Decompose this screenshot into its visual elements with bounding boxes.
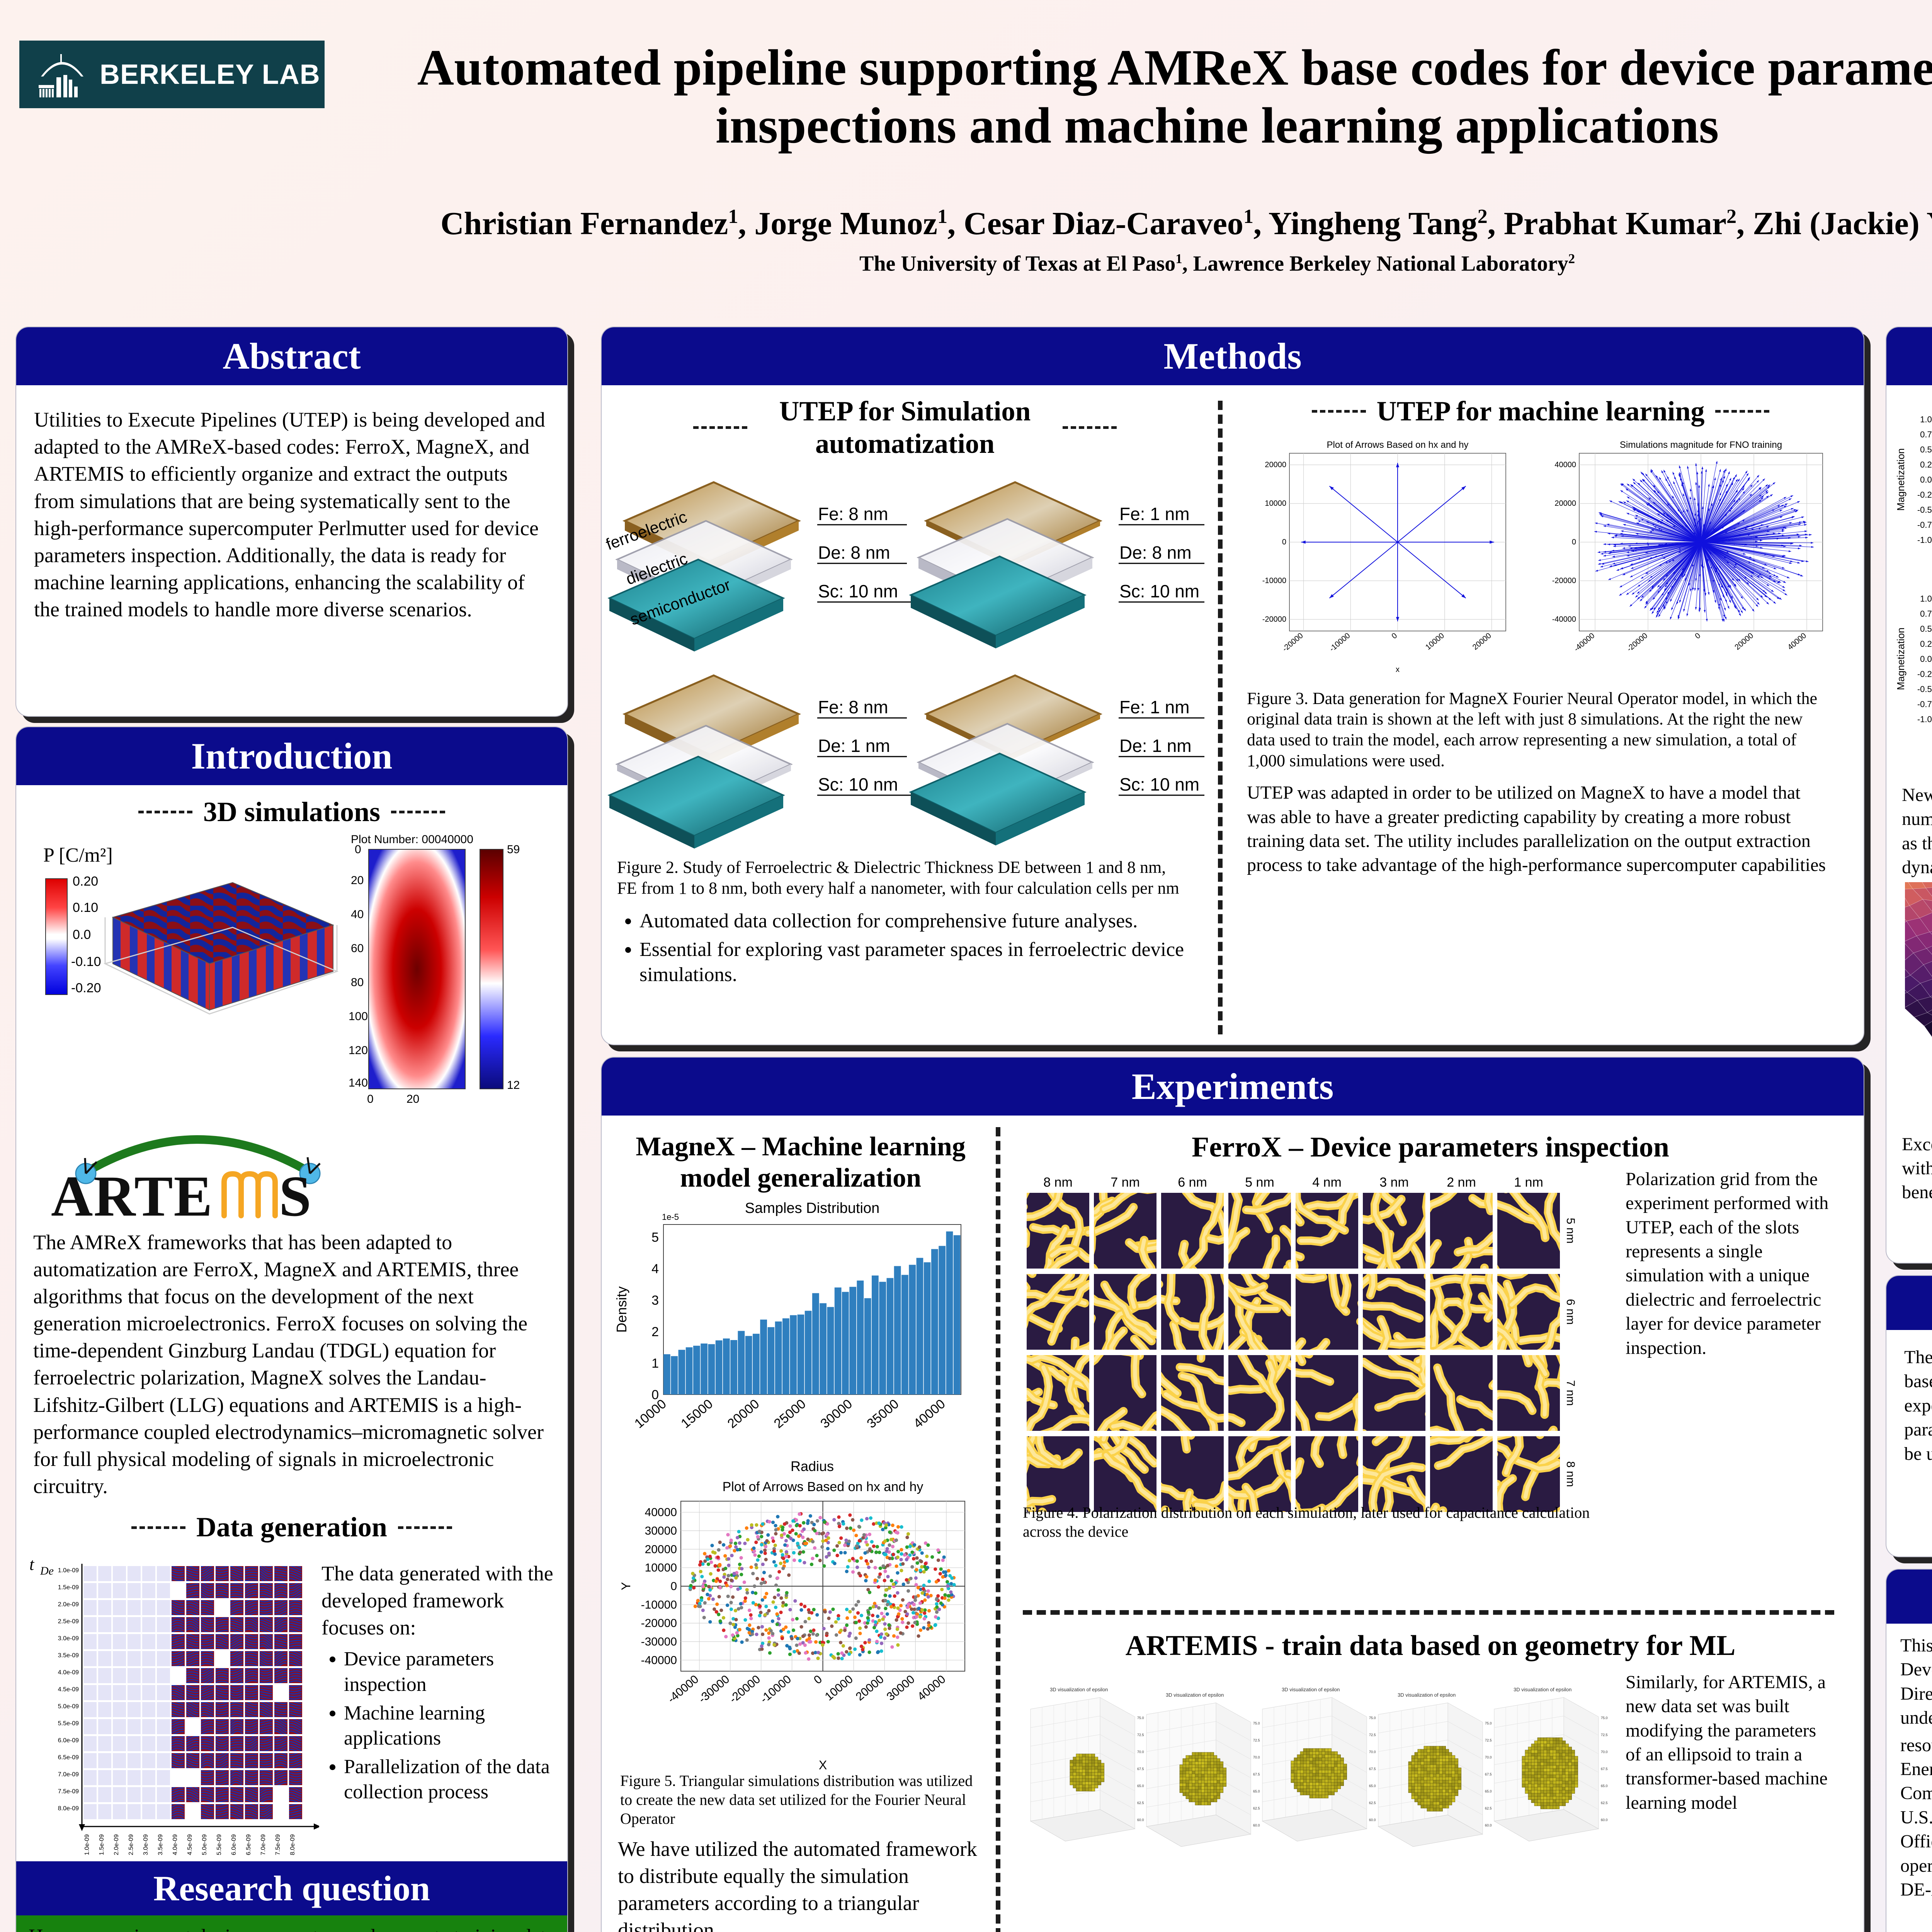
svg-text:4.0e-09: 4.0e-09 bbox=[172, 1834, 179, 1855]
panel-methods: Methods UTEP for Simulation automatizati… bbox=[601, 327, 1864, 1045]
svg-text:Fe: 8 nm: Fe: 8 nm bbox=[818, 697, 888, 717]
artemis-side-text: Similarly, for ARTEMIS, a new data set w… bbox=[1626, 1670, 1834, 1815]
svg-text:10000: 10000 bbox=[632, 1396, 669, 1431]
svg-text:5.0e-09: 5.0e-09 bbox=[201, 1834, 208, 1855]
panel-discussion: Discussion The UTEP utility is a newly-d… bbox=[1886, 1275, 1932, 1557]
svg-text:2.0e-09: 2.0e-09 bbox=[113, 1834, 120, 1855]
svg-text:ARTE: ARTE bbox=[51, 1164, 213, 1223]
svg-text:3.5e-09: 3.5e-09 bbox=[157, 1834, 164, 1855]
svg-text:-10000: -10000 bbox=[1262, 577, 1286, 585]
svg-text:72.5: 72.5 bbox=[1485, 1738, 1492, 1742]
svg-text:7.0e-09: 7.0e-09 bbox=[260, 1834, 267, 1855]
svg-text:Sc: 10 nm: Sc: 10 nm bbox=[818, 774, 898, 794]
svg-text:3D visualization of epsilon: 3D visualization of epsilon bbox=[1398, 1692, 1456, 1698]
dash-left-datagen bbox=[131, 1526, 185, 1529]
svg-text:-1.00: -1.00 bbox=[1917, 535, 1932, 545]
svg-text:59: 59 bbox=[507, 843, 520, 856]
svg-text:0.25: 0.25 bbox=[1920, 639, 1932, 649]
svg-text:0.00: 0.00 bbox=[1920, 475, 1932, 485]
figure5-caption: Figure 5. Triangular simulations distrib… bbox=[613, 1772, 988, 1828]
svg-text:67.5: 67.5 bbox=[1369, 1767, 1376, 1771]
svg-text:20: 20 bbox=[406, 1093, 419, 1105]
dash-right-ml bbox=[1715, 410, 1769, 413]
acknowledgments-text-2: resources of the National Energy Researc… bbox=[1900, 1733, 1932, 1902]
svg-text:65.0: 65.0 bbox=[1485, 1789, 1492, 1793]
svg-text:60.0: 60.0 bbox=[1137, 1818, 1144, 1822]
svg-text:S: S bbox=[279, 1164, 311, 1223]
svg-text:-0.20: -0.20 bbox=[71, 981, 101, 995]
svg-text:De: 8 nm: De: 8 nm bbox=[818, 543, 890, 563]
svg-text:75.0: 75.0 bbox=[1253, 1721, 1260, 1725]
svg-text:30000: 30000 bbox=[884, 1673, 917, 1703]
svg-text:-40000: -40000 bbox=[641, 1654, 677, 1667]
svg-text:20000: 20000 bbox=[854, 1673, 886, 1703]
acknowledgments-text: This work was supported by Laboratory Di… bbox=[1900, 1634, 1932, 1730]
svg-text:3.0e-09: 3.0e-09 bbox=[143, 1834, 149, 1855]
svg-text:20000: 20000 bbox=[1471, 631, 1493, 651]
artemis-logo: ARTE S bbox=[16, 1111, 567, 1226]
svg-text:-10000: -10000 bbox=[641, 1599, 677, 1611]
svg-text:67.5: 67.5 bbox=[1253, 1772, 1260, 1776]
svg-text:-10000: -10000 bbox=[1328, 631, 1352, 653]
svg-text:8 nm: 8 nm bbox=[1043, 1175, 1073, 1190]
svg-text:-30000: -30000 bbox=[696, 1673, 732, 1706]
svg-text:6.5e-09: 6.5e-09 bbox=[245, 1834, 252, 1855]
figure2-caption: Figure 2. Study of Ferroelectric & Diele… bbox=[617, 857, 1189, 898]
svg-text:40: 40 bbox=[351, 908, 364, 921]
svg-text:67.5: 67.5 bbox=[1137, 1767, 1144, 1771]
polarization-3d-figure: P [C/m²] 0.200.10 0.0-0.10 -0.20 bbox=[28, 836, 349, 1107]
svg-text:1.0e-09: 1.0e-09 bbox=[84, 1834, 90, 1855]
berkeley-dome-icon bbox=[33, 49, 91, 100]
svg-text:120: 120 bbox=[349, 1044, 368, 1057]
svg-text:15000: 15000 bbox=[678, 1396, 716, 1431]
dash-left-ml bbox=[1312, 410, 1366, 413]
device-stack-figure: ferroelectric dielectric semiconductor F… bbox=[602, 467, 1204, 857]
svg-text:-0.10: -0.10 bbox=[71, 954, 101, 969]
svg-text:Plot of Arrows Based on hx and: Plot of Arrows Based on hx and hy bbox=[723, 1480, 923, 1494]
ellipsoid-visualizations-figure: 3D visualization of epsilon75.072.570.06… bbox=[1023, 1682, 1614, 1932]
svg-text:Sc: 10 nm: Sc: 10 nm bbox=[818, 581, 898, 601]
section-header-abstract: Abstract bbox=[16, 327, 567, 385]
svg-text:72.5: 72.5 bbox=[1253, 1738, 1260, 1742]
svg-text:0.0: 0.0 bbox=[73, 927, 91, 942]
panel-introduction: Introduction 3D simulations bbox=[15, 726, 568, 1932]
subhead-3d-simulations: 3D simulations bbox=[203, 796, 380, 828]
ferrox-polarization-grid-figure: 8 nm7 nm6 nm5 nm4 nm3 nm2 nm1 nm5 nm6 nm… bbox=[1023, 1171, 1614, 1534]
svg-text:2.5e-09: 2.5e-09 bbox=[128, 1834, 134, 1855]
svg-text:-20000: -20000 bbox=[727, 1673, 763, 1706]
svg-text:7.0e-09: 7.0e-09 bbox=[58, 1771, 79, 1778]
svg-text:4 nm: 4 nm bbox=[1312, 1175, 1342, 1190]
svg-text:-30000: -30000 bbox=[641, 1636, 677, 1648]
svg-text:72.5: 72.5 bbox=[1137, 1733, 1144, 1737]
svg-text:-1.00: -1.00 bbox=[1917, 714, 1932, 724]
subhead-utep-ml: UTEP for machine learning bbox=[1377, 395, 1705, 428]
panel-acknowledgments: Acknowledgments This work was supported … bbox=[1886, 1569, 1932, 1932]
section-header-research-question: Research question bbox=[16, 1861, 567, 1915]
svg-text:1.00: 1.00 bbox=[1920, 594, 1932, 604]
svg-text:25000: 25000 bbox=[771, 1396, 809, 1431]
svg-text:30000: 30000 bbox=[818, 1396, 855, 1431]
svg-text:4.5e-09: 4.5e-09 bbox=[58, 1686, 79, 1693]
page-title-line1: Automated pipeline supporting AMReX base… bbox=[340, 39, 1932, 97]
svg-text:5 nm: 5 nm bbox=[1245, 1175, 1274, 1190]
figure4-caption: Figure 4. Polarization distribution on e… bbox=[1023, 1503, 1602, 1541]
subhead-artemis: ARTEMIS - train data based on geometry f… bbox=[1023, 1629, 1838, 1663]
svg-text:0: 0 bbox=[1694, 631, 1702, 640]
svg-text:40000: 40000 bbox=[645, 1506, 677, 1519]
svg-text:2: 2 bbox=[651, 1325, 659, 1339]
svg-text:t: t bbox=[29, 1555, 35, 1574]
svg-text:100: 100 bbox=[349, 1010, 368, 1023]
svg-text:140: 140 bbox=[349, 1077, 368, 1089]
svg-text:65.0: 65.0 bbox=[1369, 1784, 1376, 1788]
svg-text:0: 0 bbox=[1282, 538, 1286, 546]
svg-text:0: 0 bbox=[367, 1093, 374, 1105]
svg-text:-40000: -40000 bbox=[1552, 615, 1576, 624]
samples-distribution-figure: Samples Distribution1e-50123451000015000… bbox=[613, 1197, 973, 1476]
svg-text:10000: 10000 bbox=[645, 1562, 677, 1575]
svg-text:65.0: 65.0 bbox=[1601, 1784, 1608, 1788]
svg-text:7.5e-09: 7.5e-09 bbox=[58, 1788, 79, 1795]
svg-text:62.5: 62.5 bbox=[1601, 1801, 1608, 1805]
svg-text:75.0: 75.0 bbox=[1137, 1716, 1144, 1720]
section-header-results: Results bbox=[1886, 327, 1932, 385]
svg-text:60.0: 60.0 bbox=[1601, 1818, 1608, 1822]
svg-text:4.0e-09: 4.0e-09 bbox=[58, 1669, 79, 1676]
svg-text:3D visualization of epsilon: 3D visualization of epsilon bbox=[1050, 1687, 1108, 1692]
page-title-line2: inspections and machine learning applica… bbox=[340, 97, 1932, 155]
svg-text:40000: 40000 bbox=[911, 1396, 948, 1431]
figure-3d-simulations: P [C/m²] 0.200.10 0.0-0.10 -0.20 bbox=[16, 832, 567, 1126]
subhead-ferrox: FerroX – Device parameters inspection bbox=[1023, 1131, 1838, 1164]
svg-text:1.0e-09: 1.0e-09 bbox=[58, 1567, 79, 1574]
introduction-paragraph: The AMReX frameworks that has been adapt… bbox=[33, 1229, 550, 1500]
subhead-data-generation: Data generation bbox=[196, 1511, 387, 1544]
svg-text:1.5e-09: 1.5e-09 bbox=[58, 1584, 79, 1591]
svg-text:-0.75: -0.75 bbox=[1917, 520, 1932, 530]
svg-text:60.0: 60.0 bbox=[1253, 1823, 1260, 1827]
svg-text:0.50: 0.50 bbox=[1920, 445, 1932, 454]
svg-text:6 nm: 6 nm bbox=[1564, 1299, 1577, 1325]
page-title: Automated pipeline supporting AMReX base… bbox=[340, 39, 1932, 155]
svg-text:72.5: 72.5 bbox=[1601, 1733, 1608, 1737]
svg-text:8.0e-09: 8.0e-09 bbox=[58, 1805, 79, 1812]
svg-text:8.0e-09: 8.0e-09 bbox=[289, 1834, 296, 1855]
svg-text:5.0e-09: 5.0e-09 bbox=[58, 1703, 79, 1710]
affiliations: The University of Texas at El Paso1, Law… bbox=[193, 251, 1932, 276]
svg-text:7.5e-09: 7.5e-09 bbox=[275, 1834, 281, 1855]
methods-bullets: Automated data collection for comprehens… bbox=[639, 908, 1189, 988]
list-item: Machine learning applications bbox=[344, 1701, 553, 1751]
svg-text:0: 0 bbox=[1390, 631, 1399, 640]
svg-text:De: 1 nm: De: 1 nm bbox=[1119, 736, 1192, 756]
svg-text:1: 1 bbox=[651, 1356, 659, 1371]
panel-experiments: Experiments MagneX – Machine learning mo… bbox=[601, 1057, 1864, 1932]
svg-text:5.5e-09: 5.5e-09 bbox=[216, 1834, 223, 1855]
ferrox-side-text: Polarization grid from the experiment pe… bbox=[1626, 1167, 1834, 1360]
svg-text:6.0e-09: 6.0e-09 bbox=[58, 1737, 79, 1744]
svg-text:-0.50: -0.50 bbox=[1917, 505, 1932, 515]
svg-text:60.0: 60.0 bbox=[1485, 1823, 1492, 1827]
svg-text:Plot of Arrows Based on hx and: Plot of Arrows Based on hx and hy bbox=[1327, 440, 1469, 450]
svg-text:10000: 10000 bbox=[1424, 631, 1446, 651]
svg-text:40000: 40000 bbox=[1554, 461, 1576, 469]
svg-text:6.5e-09: 6.5e-09 bbox=[58, 1754, 79, 1761]
svg-text:70.0: 70.0 bbox=[1253, 1755, 1260, 1759]
svg-text:20000: 20000 bbox=[1554, 499, 1576, 508]
svg-text:62.5: 62.5 bbox=[1253, 1806, 1260, 1810]
svg-text:5 nm: 5 nm bbox=[1564, 1218, 1577, 1243]
svg-text:0.20: 0.20 bbox=[73, 874, 98, 889]
svg-text:70.0: 70.0 bbox=[1485, 1755, 1492, 1759]
plot-number-slice-figure: Plot Number: 00040000 02040 6080100 1201… bbox=[349, 832, 549, 1126]
svg-text:2 nm: 2 nm bbox=[1447, 1175, 1476, 1190]
svg-text:1.5e-09: 1.5e-09 bbox=[99, 1834, 105, 1855]
svg-text:1.00: 1.00 bbox=[1920, 415, 1932, 424]
results-paragraph-2: Excess capacitance on the device is foun… bbox=[1902, 1133, 1932, 1205]
svg-text:3.5e-09: 3.5e-09 bbox=[58, 1652, 79, 1659]
svg-text:2.0e-09: 2.0e-09 bbox=[58, 1601, 79, 1608]
methods-ml-paragraph: UTEP was adapted in order to be utilized… bbox=[1247, 781, 1830, 878]
svg-text:x: x bbox=[1396, 665, 1400, 673]
svg-text:0.10: 0.10 bbox=[73, 900, 98, 915]
svg-text:Simulations magnitude for FNO: Simulations magnitude for FNO training bbox=[1620, 440, 1782, 450]
dash-right-sim bbox=[1063, 426, 1117, 429]
svg-text:De: De bbox=[40, 1565, 54, 1577]
svg-text:65.0: 65.0 bbox=[1253, 1789, 1260, 1793]
svg-text:6.0e-09: 6.0e-09 bbox=[231, 1834, 237, 1855]
svg-text:-20000: -20000 bbox=[641, 1617, 677, 1630]
methods-divider bbox=[1218, 401, 1223, 1034]
experiments-divider bbox=[996, 1127, 1000, 1932]
svg-text:4.5e-09: 4.5e-09 bbox=[187, 1834, 193, 1855]
svg-text:20000: 20000 bbox=[645, 1543, 677, 1556]
subhead-data-generation-row: Data generation bbox=[32, 1511, 552, 1544]
dash-right-datagen bbox=[398, 1526, 452, 1529]
experiments-hdivider bbox=[1023, 1610, 1834, 1615]
svg-text:3 nm: 3 nm bbox=[1379, 1175, 1409, 1190]
svg-text:20000: 20000 bbox=[725, 1396, 762, 1431]
subhead-utep-sim-row: UTEP for Simulation automatization bbox=[602, 395, 1208, 460]
svg-text:67.5: 67.5 bbox=[1601, 1767, 1608, 1771]
svg-text:Samples Distribution: Samples Distribution bbox=[745, 1200, 879, 1216]
svg-text:70.0: 70.0 bbox=[1137, 1750, 1144, 1754]
svg-text:0.50: 0.50 bbox=[1920, 624, 1932, 634]
svg-text:70.0: 70.0 bbox=[1601, 1750, 1608, 1754]
list-item: Device parameters inspection bbox=[344, 1646, 553, 1697]
svg-text:75.0: 75.0 bbox=[1485, 1721, 1492, 1725]
svg-text:72.5: 72.5 bbox=[1369, 1733, 1376, 1737]
svg-text:10000: 10000 bbox=[1265, 499, 1286, 508]
berkeley-lab-logo: BERKELEY LAB bbox=[19, 41, 325, 108]
authors: Christian Fernandez1, Jorge Munoz1, Cesa… bbox=[193, 205, 1932, 242]
subhead-utep-simulation: UTEP for Simulation automatization bbox=[758, 395, 1052, 460]
svg-text:-20000: -20000 bbox=[1281, 631, 1305, 653]
device-label-fe: Fe: 8 nm bbox=[818, 504, 888, 524]
svg-text:Fe: 1 nm: Fe: 1 nm bbox=[1119, 697, 1190, 717]
svg-text:75.0: 75.0 bbox=[1601, 1716, 1608, 1720]
results-paragraph-1: New train data built with UTEP on par wi… bbox=[1902, 783, 1932, 880]
svg-text:3D visualization of epsilon: 3D visualization of epsilon bbox=[1166, 1692, 1224, 1698]
svg-text:70.0: 70.0 bbox=[1369, 1750, 1376, 1754]
svg-text:4: 4 bbox=[651, 1262, 659, 1276]
svg-text:5.5e-09: 5.5e-09 bbox=[58, 1720, 79, 1727]
svg-text:0.75: 0.75 bbox=[1920, 430, 1932, 439]
figure3-caption: Figure 3. Data generation for MagneX Fou… bbox=[1247, 688, 1830, 771]
abstract-text: Utilities to Execute Pipelines (UTEP) is… bbox=[34, 406, 549, 623]
research-question-block: Research question How can we inspect dev… bbox=[16, 1861, 567, 1932]
svg-text:0.25: 0.25 bbox=[1920, 460, 1932, 469]
data-generation-bullets: Device parameters inspection Machine lea… bbox=[344, 1646, 553, 1804]
svg-text:0: 0 bbox=[355, 843, 361, 856]
svg-text:-0.25: -0.25 bbox=[1917, 669, 1932, 679]
svg-text:Magnetization: Magnetization bbox=[1895, 448, 1906, 511]
svg-text:0: 0 bbox=[811, 1673, 825, 1687]
berkeley-lab-wordmark: BERKELEY LAB bbox=[100, 59, 320, 90]
svg-text:62.5: 62.5 bbox=[1369, 1801, 1376, 1805]
svg-text:-20000: -20000 bbox=[1262, 615, 1286, 624]
panel-abstract: Abstract Utilities to Execute Pipelines … bbox=[15, 327, 568, 717]
svg-text:7 nm: 7 nm bbox=[1111, 1175, 1140, 1190]
fno-training-figure: Simulations magnitude for FNO training-4… bbox=[1521, 434, 1830, 673]
svg-text:X: X bbox=[819, 1758, 827, 1772]
magnetization-plot-1: Magnetization vs Time no ML (field2)1.01… bbox=[1894, 399, 1932, 573]
svg-text:0: 0 bbox=[670, 1580, 677, 1593]
svg-text:62.5: 62.5 bbox=[1485, 1806, 1492, 1810]
subhead-magnex: MagneX – Machine learning model generali… bbox=[613, 1131, 988, 1194]
svg-text:40000: 40000 bbox=[1786, 631, 1808, 651]
section-header-acknowledgments: Acknowledgments bbox=[1886, 1570, 1932, 1624]
section-header-introduction: Introduction bbox=[16, 727, 567, 785]
section-header-methods: Methods bbox=[602, 327, 1864, 385]
svg-text:65.0: 65.0 bbox=[1137, 1784, 1144, 1788]
svg-text:80: 80 bbox=[351, 976, 364, 989]
magnetization-plot-2: Magnetization vs Time no ML (field2)1.01… bbox=[1894, 578, 1932, 752]
svg-text:-0.75: -0.75 bbox=[1917, 699, 1932, 709]
svg-text:35000: 35000 bbox=[864, 1396, 901, 1431]
svg-text:8 nm: 8 nm bbox=[1564, 1461, 1577, 1487]
discussion-text: The UTEP utility is a newly-developed ex… bbox=[1904, 1345, 1932, 1466]
svg-text:Density: Density bbox=[614, 1286, 629, 1333]
svg-text:De: 1 nm: De: 1 nm bbox=[818, 736, 890, 756]
data-generation-intro: The data generated with the developed fr… bbox=[321, 1560, 553, 1641]
svg-text:P [C/m²]: P [C/m²] bbox=[43, 844, 113, 866]
svg-text:10000: 10000 bbox=[823, 1673, 855, 1703]
svg-text:5: 5 bbox=[651, 1230, 659, 1245]
research-question-text: How can we inspect device parameters and… bbox=[16, 1915, 567, 1932]
svg-text:20000: 20000 bbox=[1265, 461, 1286, 469]
svg-text:Magnetization: Magnetization bbox=[1895, 628, 1906, 690]
svg-text:Radius: Radius bbox=[791, 1458, 834, 1474]
svg-text:De: 8 nm: De: 8 nm bbox=[1119, 543, 1192, 563]
svg-text:6 nm: 6 nm bbox=[1178, 1175, 1207, 1190]
svg-text:7 nm: 7 nm bbox=[1564, 1380, 1577, 1406]
svg-text:-40000: -40000 bbox=[665, 1673, 701, 1706]
section-header-discussion: Discussion bbox=[1886, 1276, 1932, 1330]
svg-text:62.5: 62.5 bbox=[1137, 1801, 1144, 1805]
subhead-utep-ml-row: UTEP for machine learning bbox=[1235, 395, 1846, 428]
svg-text:-20000: -20000 bbox=[1552, 577, 1576, 585]
svg-text:12: 12 bbox=[507, 1079, 520, 1092]
svg-text:Sc: 10 nm: Sc: 10 nm bbox=[1119, 774, 1199, 794]
triangular-scatter-figure: Plot of Arrows Based on hx and hy-40000-… bbox=[613, 1478, 973, 1772]
list-item: Essential for exploring vast parameter s… bbox=[639, 937, 1189, 988]
plot-number-title: Plot Number: 00040000 bbox=[351, 833, 473, 846]
panel-results: Results Magnetization vs Time no ML (fie… bbox=[1886, 327, 1932, 1264]
svg-text:0.75: 0.75 bbox=[1920, 609, 1932, 619]
arrows-8-figure: Plot of Arrows Based on hx and hy-20000-… bbox=[1243, 434, 1514, 673]
svg-text:0.00: 0.00 bbox=[1920, 654, 1932, 664]
svg-text:1 nm: 1 nm bbox=[1514, 1175, 1543, 1190]
svg-text:3.0e-09: 3.0e-09 bbox=[58, 1635, 79, 1642]
svg-text:67.5: 67.5 bbox=[1485, 1772, 1492, 1776]
list-item: Automated data collection for comprehens… bbox=[639, 908, 1189, 934]
poster-header: BERKELEY LAB Automated pipeline supporti… bbox=[0, 0, 1932, 309]
dash-left bbox=[138, 811, 192, 813]
dash-left-sim bbox=[693, 426, 747, 429]
svg-text:3: 3 bbox=[651, 1293, 659, 1308]
svg-text:Fe: 1 nm: Fe: 1 nm bbox=[1119, 504, 1190, 524]
svg-text:-20000: -20000 bbox=[1625, 631, 1649, 653]
svg-text:0: 0 bbox=[1572, 538, 1576, 546]
svg-text:40000: 40000 bbox=[915, 1673, 948, 1703]
svg-text:3D visualization of epsilon: 3D visualization of epsilon bbox=[1514, 1687, 1571, 1692]
svg-text:-0.25: -0.25 bbox=[1917, 490, 1932, 500]
list-item: Parallelization of the data collection p… bbox=[344, 1754, 553, 1805]
excess-capacitance-figure: Excess capacitance at V=0.7 V (μF/cm²)1.… bbox=[1905, 882, 1932, 1129]
dash-right bbox=[391, 811, 445, 813]
svg-text:Y: Y bbox=[619, 1582, 633, 1590]
svg-text:60.0: 60.0 bbox=[1369, 1818, 1376, 1822]
svg-text:-40000: -40000 bbox=[1572, 631, 1596, 653]
svg-text:-0.50: -0.50 bbox=[1917, 684, 1932, 694]
svg-text:3D visualization of epsilon: 3D visualization of epsilon bbox=[1282, 1687, 1340, 1692]
svg-text:2.5e-09: 2.5e-09 bbox=[58, 1618, 79, 1625]
section-header-experiments: Experiments bbox=[602, 1058, 1864, 1116]
data-generation-grid-figure: tDe1.0e-091.5e-092.0e-092.5e-093.0e-093.… bbox=[26, 1551, 319, 1898]
subhead-3d-simulations-row: 3D simulations bbox=[32, 796, 552, 828]
svg-text:Sc: 10 nm: Sc: 10 nm bbox=[1119, 581, 1199, 601]
svg-text:60: 60 bbox=[351, 942, 364, 955]
svg-text:30000: 30000 bbox=[645, 1525, 677, 1537]
svg-text:-10000: -10000 bbox=[758, 1673, 794, 1706]
svg-text:1e-5: 1e-5 bbox=[662, 1212, 679, 1222]
svg-text:20000: 20000 bbox=[1733, 631, 1755, 651]
svg-text:20: 20 bbox=[351, 874, 364, 887]
svg-text:75.0: 75.0 bbox=[1369, 1716, 1376, 1720]
magnex-paragraph: We have utilized the automated framework… bbox=[613, 1835, 988, 1932]
